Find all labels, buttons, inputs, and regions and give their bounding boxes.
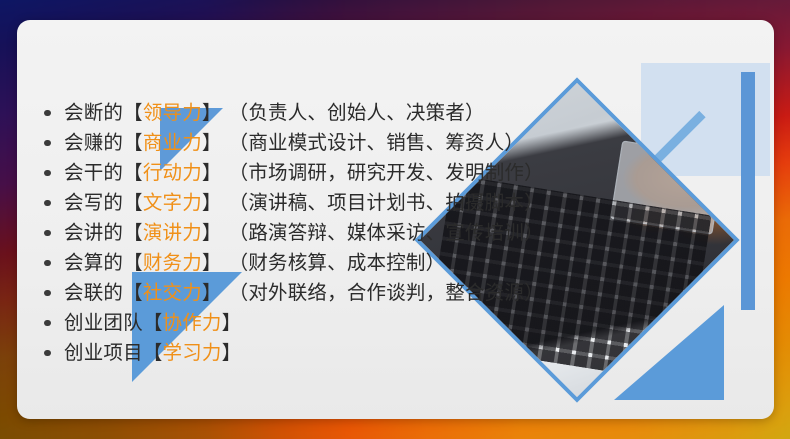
bracket-close: 】: [202, 252, 222, 274]
bullet-keyword: 商业力: [143, 132, 202, 154]
bullet-lead-text: 创业团队: [64, 312, 143, 334]
bracket-close: 】: [202, 102, 222, 124]
bullet-dot-icon: [44, 350, 51, 357]
list-item: 会写的【文字力】（演讲稿、项目计划书、拍摄脚本）: [27, 188, 547, 218]
bullet-detail-text: （商业模式设计、销售、筹资人）: [229, 132, 525, 154]
bullet-dot-icon: [44, 290, 51, 297]
bullet-keyword: 行动力: [143, 162, 202, 184]
list-item: 会联的【社交力】（对外联络，合作谈判，整合资源）: [27, 278, 547, 308]
bullet-keyword: 财务力: [143, 252, 202, 274]
bullet-keyword: 演讲力: [143, 222, 202, 244]
bracket-open: 【: [123, 162, 143, 184]
bracket-open: 【: [123, 192, 143, 214]
list-item: 会讲的【演讲力】（路演答辩、媒体采访、宣传培训）: [27, 218, 547, 248]
bracket-open: 【: [123, 102, 143, 124]
bracket-open: 【: [143, 342, 163, 364]
bullet-lead-text: 创业项目: [64, 342, 143, 364]
bullet-dot-icon: [44, 320, 51, 327]
bullet-detail-text: （对外联络，合作谈判，整合资源）: [229, 282, 544, 304]
bullet-dot-icon: [44, 110, 51, 117]
bullet-keyword: 文字力: [143, 192, 202, 214]
list-item: 创业团队【协作力】: [27, 308, 547, 338]
list-item: 会干的【行动力】（市场调研，研究开发、发明制作）: [27, 158, 547, 188]
bullet-lead-text: 会讲的: [64, 222, 123, 244]
bullet-lead-text: 会写的: [64, 192, 123, 214]
bullet-dot-icon: [44, 140, 51, 147]
slide-canvas: 会断的【领导力】（负责人、创始人、决策者）会赚的【商业力】（商业模式设计、销售、…: [0, 0, 790, 439]
bullet-dot-icon: [44, 170, 51, 177]
bracket-open: 【: [123, 282, 143, 304]
bracket-open: 【: [123, 132, 143, 154]
bullet-lead-text: 会断的: [64, 102, 123, 124]
list-item: 创业项目【学习力】: [27, 338, 547, 368]
bracket-open: 【: [143, 312, 163, 334]
content-card: 会断的【领导力】（负责人、创始人、决策者）会赚的【商业力】（商业模式设计、销售、…: [17, 20, 774, 419]
bullet-dot-icon: [44, 260, 51, 267]
blue-vertical-bar-decoration: [741, 72, 755, 310]
bracket-close: 】: [202, 282, 222, 304]
bracket-close: 】: [202, 222, 222, 244]
bullet-detail-text: （市场调研，研究开发、发明制作）: [229, 162, 544, 184]
bullet-keyword: 社交力: [143, 282, 202, 304]
bracket-close: 】: [202, 192, 222, 214]
bracket-close: 】: [222, 342, 242, 364]
bracket-close: 】: [202, 162, 222, 184]
list-item: 会赚的【商业力】（商业模式设计、销售、筹资人）: [27, 128, 547, 158]
bullet-lead-text: 会干的: [64, 162, 123, 184]
bullet-lead-text: 会联的: [64, 282, 123, 304]
bullet-keyword: 领导力: [143, 102, 202, 124]
bracket-close: 】: [202, 132, 222, 154]
bullet-lead-text: 会算的: [64, 252, 123, 274]
bullet-detail-text: （负责人、创始人、决策者）: [229, 102, 485, 124]
bullet-detail-text: （路演答辩、媒体采访、宣传培训）: [229, 222, 544, 244]
capability-bullet-list: 会断的【领导力】（负责人、创始人、决策者）会赚的【商业力】（商业模式设计、销售、…: [27, 98, 547, 368]
bullet-detail-text: （演讲稿、项目计划书、拍摄脚本）: [229, 192, 544, 214]
bullet-keyword: 协作力: [163, 312, 222, 334]
list-item: 会算的【财务力】（财务核算、成本控制）: [27, 248, 547, 278]
bracket-open: 【: [123, 252, 143, 274]
bullet-dot-icon: [44, 230, 51, 237]
bracket-close: 】: [222, 312, 242, 334]
bracket-open: 【: [123, 222, 143, 244]
bullet-dot-icon: [44, 200, 51, 207]
blue-triangle-bottom-right-decoration: [614, 305, 724, 400]
bullet-keyword: 学习力: [163, 342, 222, 364]
bullet-detail-text: （财务核算、成本控制）: [229, 252, 446, 274]
bullet-lead-text: 会赚的: [64, 132, 123, 154]
list-item: 会断的【领导力】（负责人、创始人、决策者）: [27, 98, 547, 128]
